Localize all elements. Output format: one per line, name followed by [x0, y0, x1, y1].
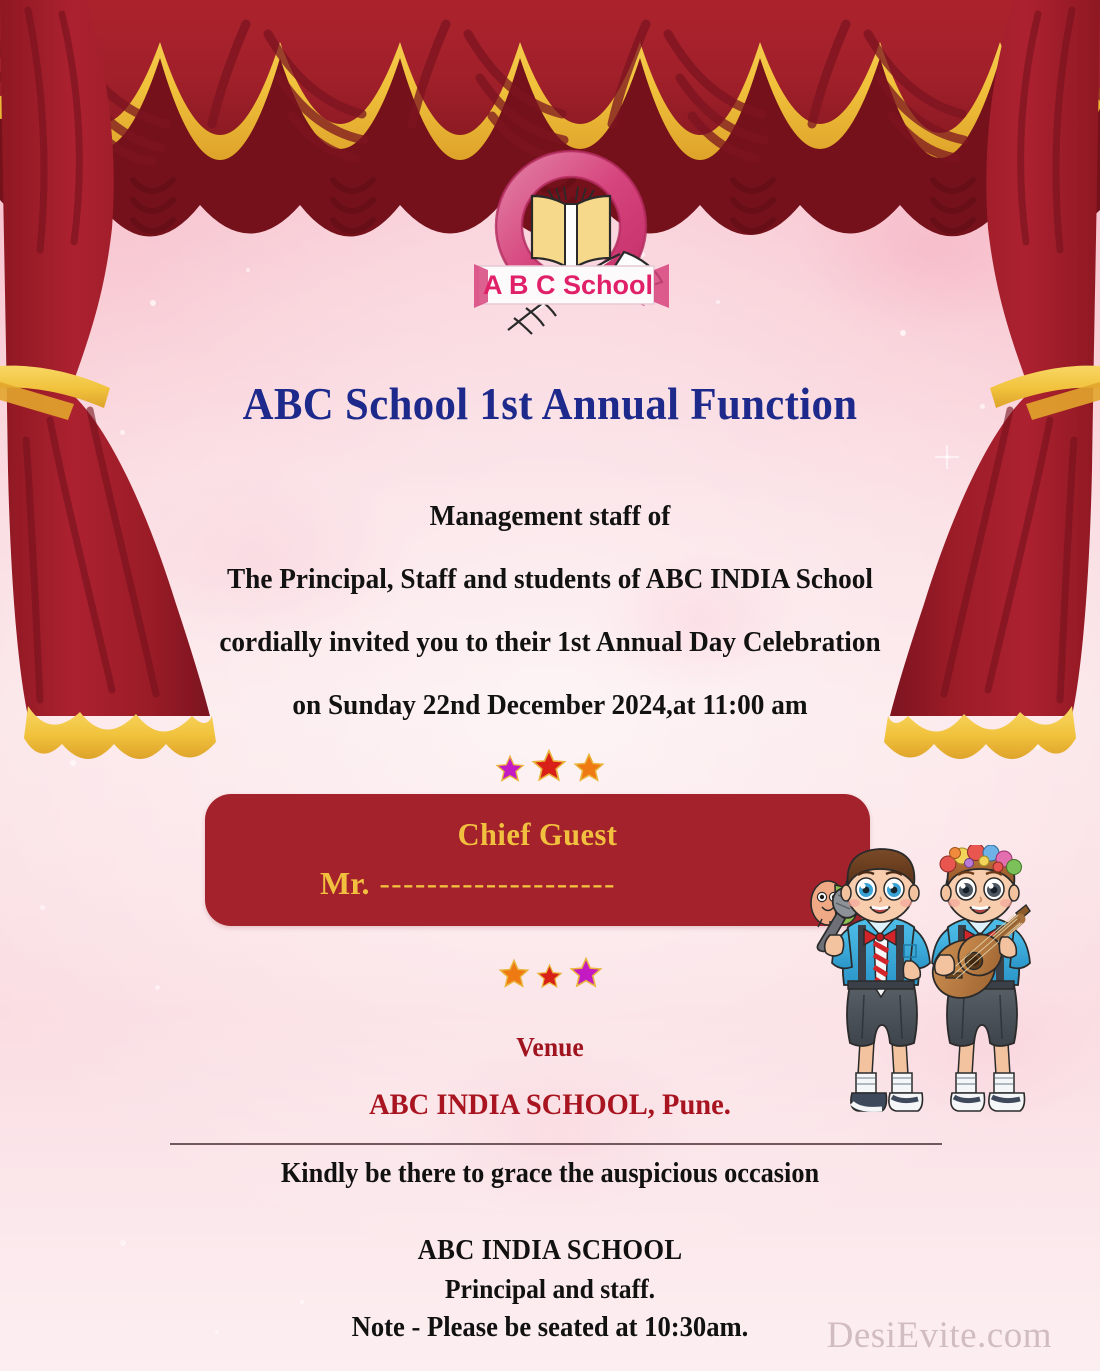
logo-banner-text: A B C School	[483, 270, 653, 300]
invitation-card: A B C School ABC School 1st Annual Funct…	[0, 0, 1100, 1371]
school-logo: A B C School	[474, 148, 669, 338]
chief-guest-prefix: Mr.	[320, 865, 369, 902]
grace-note: Kindly be there to grace the auspicious …	[33, 1158, 1067, 1190]
chief-guest-title: Chief Guest	[222, 816, 854, 853]
body-line-2: The Principal, Staff and students of ABC…	[33, 548, 1067, 611]
star-icon	[531, 748, 567, 784]
chief-guest-box[interactable]: Chief Guest Mr. --------------------	[205, 794, 870, 926]
chief-guest-name-row[interactable]: Mr. --------------------	[205, 865, 870, 902]
star-icon	[573, 743, 605, 784]
star-icon	[495, 746, 525, 784]
horizontal-divider	[170, 1143, 942, 1145]
star-icon	[536, 950, 563, 990]
footer-signatory: Principal and staff.	[28, 1274, 1073, 1305]
body-line-4: on Sunday 22nd December 2024,at 11:00 am	[33, 674, 1067, 737]
invitation-body: Management staff of The Principal, Staff…	[0, 485, 1100, 737]
watermark: DesiEvite.com	[827, 1314, 1052, 1357]
two-boys-illustration	[808, 845, 1058, 1130]
body-line-1: Management staff of	[33, 485, 1067, 548]
page-title: ABC School 1st Annual Function	[28, 378, 1073, 430]
chief-guest-blank-line[interactable]: --------------------	[379, 867, 615, 899]
star-divider-top	[0, 738, 1100, 784]
star-icon	[569, 954, 603, 990]
footer-school-name: ABC INDIA SCHOOL	[28, 1235, 1073, 1267]
star-icon	[498, 958, 530, 990]
body-line-3: cordially invited you to their 1st Annua…	[33, 611, 1067, 674]
boy-with-guitar	[923, 845, 1030, 1111]
